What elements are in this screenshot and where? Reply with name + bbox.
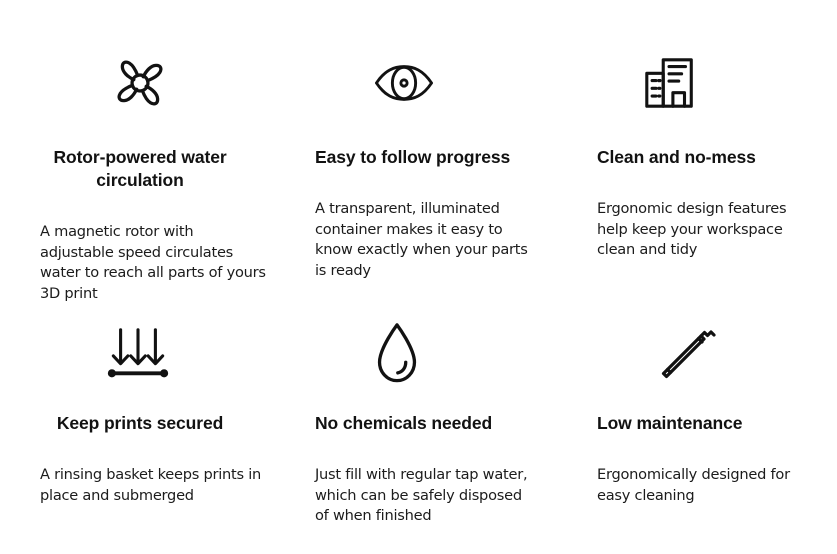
feature-title: Low maintenance [597, 412, 813, 435]
features-grid: Rotor-powered water circulation A magnet… [0, 0, 837, 554]
feature-title: Easy to follow progress [315, 146, 545, 169]
feature-description: Ergonomically designed for easy cleaning [597, 465, 797, 506]
feature-title: Keep prints secured [40, 412, 270, 435]
feature-description: A rinsing basket keeps prints in place a… [40, 465, 270, 506]
feature-description: Just fill with regular tap water, which … [315, 465, 535, 527]
feature-card-low-maintenance: Low maintenance Ergonomically designed f… [597, 318, 813, 506]
eye-icon [315, 42, 545, 124]
feature-card-easy-to-follow-progress: Easy to follow progress A transparent, i… [315, 42, 545, 281]
feature-card-no-chemicals-needed: No chemicals needed Just fill with regul… [315, 318, 545, 527]
down-arrows-to-bar-icon [40, 318, 270, 388]
feature-description: A transparent, illuminated container mak… [315, 199, 537, 281]
feature-card-keep-prints-secured: Keep prints secured A rinsing basket kee… [0, 318, 300, 506]
feature-description: A magnetic rotor with adjustable speed c… [40, 222, 270, 304]
buildings-icon [597, 42, 813, 124]
feature-card-rotor-powered-water-circulation: Rotor-powered water circulation A magnet… [0, 42, 300, 304]
water-drop-icon [315, 318, 545, 388]
fan-rotor-icon [40, 42, 270, 124]
soldering-iron-icon [597, 318, 813, 388]
feature-title: No chemicals needed [315, 412, 545, 435]
feature-description: Ergonomic design features help keep your… [597, 199, 802, 261]
feature-title: Clean and no-mess [597, 146, 813, 169]
feature-title: Rotor-powered water circulation [40, 146, 270, 192]
feature-card-clean-and-no-mess: Clean and no-mess Ergonomic design featu… [597, 42, 813, 261]
